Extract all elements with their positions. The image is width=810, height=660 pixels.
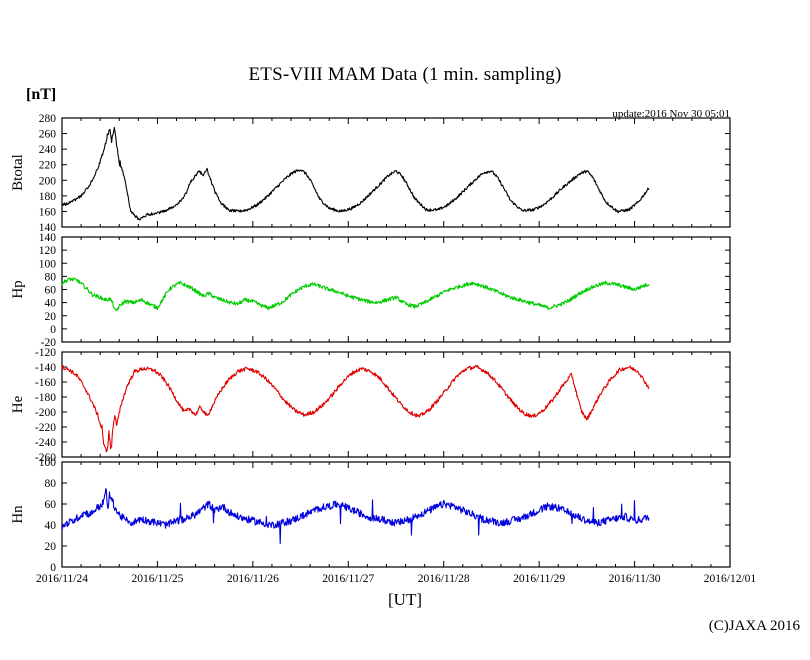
y-tick-label: -200 [35, 407, 56, 419]
y-tick-label: -180 [35, 392, 56, 404]
y-tick-label: -140 [35, 362, 56, 374]
copyright-credit: (C)JAXA 2016 [709, 618, 800, 635]
unit-label: [nT] [26, 86, 56, 104]
y-tick-label: 40 [45, 298, 57, 310]
trace-hp [62, 278, 649, 311]
panel-frame-hn [62, 462, 730, 567]
y-axis-label-he: He [10, 395, 26, 413]
y-tick-label: 20 [45, 311, 57, 323]
y-axis-label-btotal: Btotal [10, 154, 26, 191]
panel-frame-he [62, 352, 730, 457]
x-tick-label: 2016/11/28 [418, 573, 470, 585]
y-tick-label: 60 [45, 285, 57, 297]
trace-btotal [62, 127, 649, 219]
y-tick-label: 220 [39, 160, 57, 172]
x-axis-label: [UT] [0, 590, 810, 610]
chart-title: ETS-VIII MAM Data (1 min. sampling) [0, 64, 810, 86]
y-tick-label: 100 [39, 457, 57, 469]
y-tick-label: -160 [35, 377, 56, 389]
x-tick-label: 2016/11/24 [36, 573, 88, 585]
y-axis-label-hn: Hn [10, 505, 26, 524]
y-tick-label: 260 [39, 129, 57, 141]
figure-root: ETS-VIII MAM Data (1 min. sampling) [nT]… [0, 0, 810, 655]
y-tick-label: 60 [45, 499, 57, 511]
y-tick-label: -220 [35, 422, 56, 434]
trace-hn [62, 489, 649, 544]
y-tick-label: 20 [45, 541, 57, 553]
y-tick-label: 200 [39, 175, 57, 187]
y-tick-label: 100 [39, 258, 57, 270]
y-tick-label: 40 [45, 520, 57, 532]
panel-he: -260-240-220-200-180-160-140-120He [10, 347, 730, 464]
panel-btotal: 140160180200220240260280Btotal [10, 113, 730, 234]
y-tick-label: 180 [39, 191, 57, 203]
panel-hp: -20020406080100120140Hp [10, 232, 730, 349]
update-timestamp: update:2016 Nov 30 05:01 [612, 108, 730, 120]
y-tick-label: 140 [39, 232, 57, 244]
y-tick-label: 0 [50, 324, 56, 336]
plot-area: 140160180200220240260280Btotal-200204060… [0, 0, 810, 655]
y-tick-label: 240 [39, 144, 57, 156]
x-tick-label: 2016/11/26 [227, 573, 279, 585]
y-tick-label: -120 [35, 347, 56, 359]
x-tick-label: 2016/11/25 [131, 573, 183, 585]
x-tick-label: 2016/11/30 [609, 573, 661, 585]
y-tick-label: 80 [45, 478, 57, 490]
panel-hn: 020406080100Hn [10, 457, 730, 574]
y-axis-label-hp: Hp [10, 280, 26, 298]
x-tick-label: 2016/12/01 [704, 573, 757, 585]
y-tick-label: -240 [35, 437, 56, 449]
y-tick-label: 280 [39, 113, 57, 125]
x-tick-label: 2016/11/29 [513, 573, 565, 585]
y-tick-label: 80 [45, 271, 57, 283]
y-tick-label: 160 [39, 206, 57, 218]
y-tick-label: 120 [39, 245, 57, 257]
trace-he [62, 365, 649, 451]
x-tick-label: 2016/11/27 [322, 573, 374, 585]
panel-frame-hp [62, 237, 730, 342]
